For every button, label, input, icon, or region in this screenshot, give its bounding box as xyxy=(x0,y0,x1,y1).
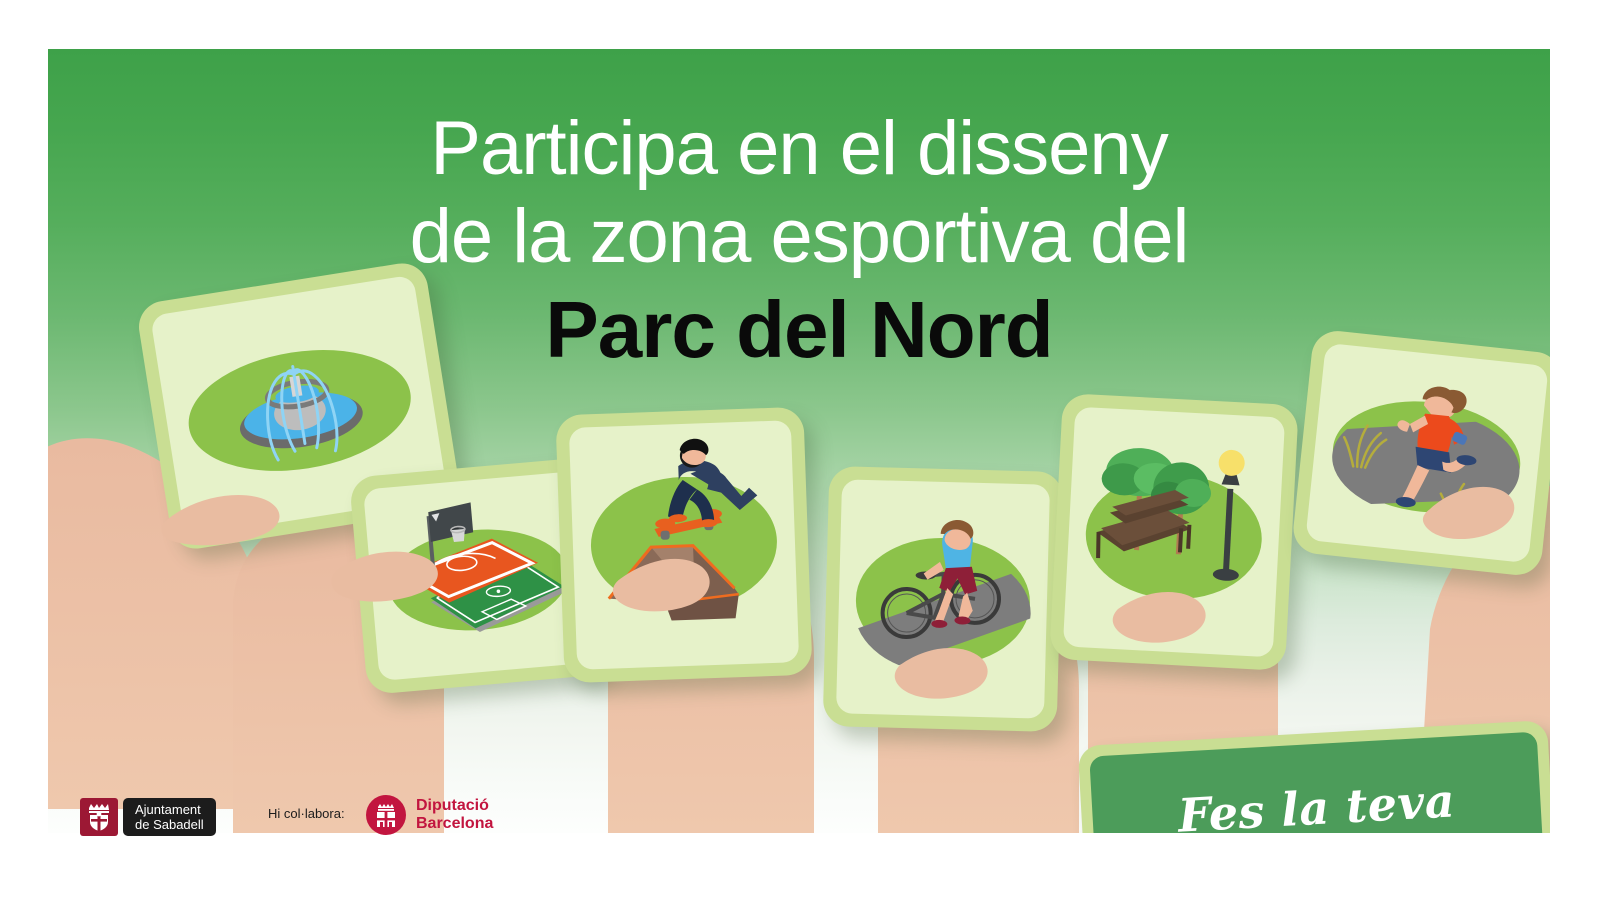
footer-logos: Ajuntament de Sabadell Hi col·labora: Di… xyxy=(0,833,1600,900)
diputacio-name-box: Diputació Barcelona xyxy=(416,797,493,833)
thumb-6 xyxy=(1423,487,1514,539)
diputacio-line-2: Barcelona xyxy=(416,815,493,833)
thumb-4 xyxy=(895,648,988,699)
poster-stage: Participa en el disseny de la zona espor… xyxy=(0,0,1600,900)
collaborate-label: Hi col·labora: xyxy=(268,806,345,821)
ajuntament-line-1: Ajuntament xyxy=(135,802,204,817)
logo-ajuntament-sabadell[interactable]: Ajuntament de Sabadell xyxy=(80,798,216,836)
callout-line-1: Fes la teva xyxy=(1177,773,1457,833)
sabadell-crest-icon xyxy=(80,798,118,836)
ajuntament-line-2: de Sabadell xyxy=(135,817,204,832)
thumb-3 xyxy=(613,559,710,612)
thumb-2 xyxy=(331,552,437,602)
ajuntament-name-box: Ajuntament de Sabadell xyxy=(123,798,216,836)
logo-diputacio-barcelona[interactable]: Diputació Barcelona xyxy=(366,795,493,835)
callout-text: Fes la teva aportació! xyxy=(1176,772,1459,833)
diputacio-seal-icon xyxy=(366,795,406,835)
thumb-5 xyxy=(1113,592,1206,643)
diputacio-line-1: Diputació xyxy=(416,797,493,815)
thumb-1 xyxy=(162,495,280,545)
poster-banner: Participa en el disseny de la zona espor… xyxy=(48,49,1550,833)
thumbs-layer xyxy=(48,49,1550,833)
